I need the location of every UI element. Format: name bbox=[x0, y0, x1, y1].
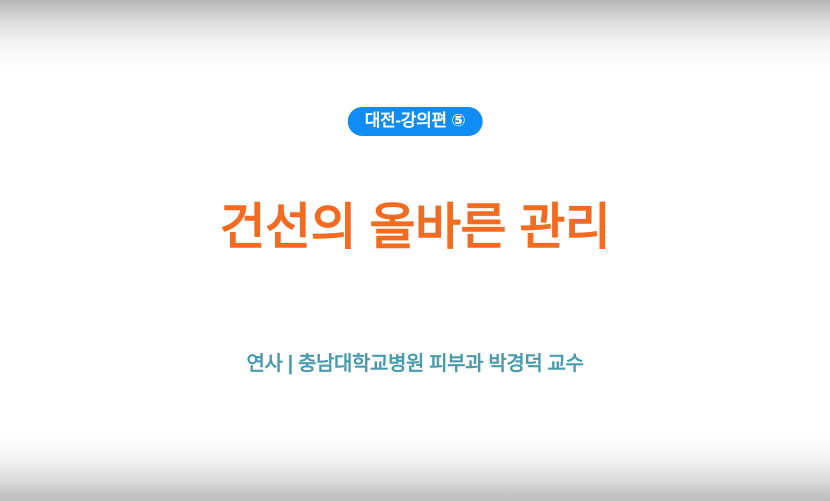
speaker-credit: 연사 | 충남대학교병원 피부과 박경덕 교수 bbox=[0, 352, 830, 376]
page-title: 건선의 올바른 관리 bbox=[0, 199, 830, 257]
slide-content: 대전-강의편 ⑤ 건선의 올바른 관리 연사 | 충남대학교병원 피부과 박경덕… bbox=[0, 0, 830, 501]
category-badge-label: 대전-강의편 ⑤ bbox=[365, 112, 466, 129]
category-badge: 대전-강의편 ⑤ bbox=[348, 107, 483, 136]
lecture-title-slide: 대전-강의편 ⑤ 건선의 올바른 관리 연사 | 충남대학교병원 피부과 박경덕… bbox=[0, 0, 830, 501]
